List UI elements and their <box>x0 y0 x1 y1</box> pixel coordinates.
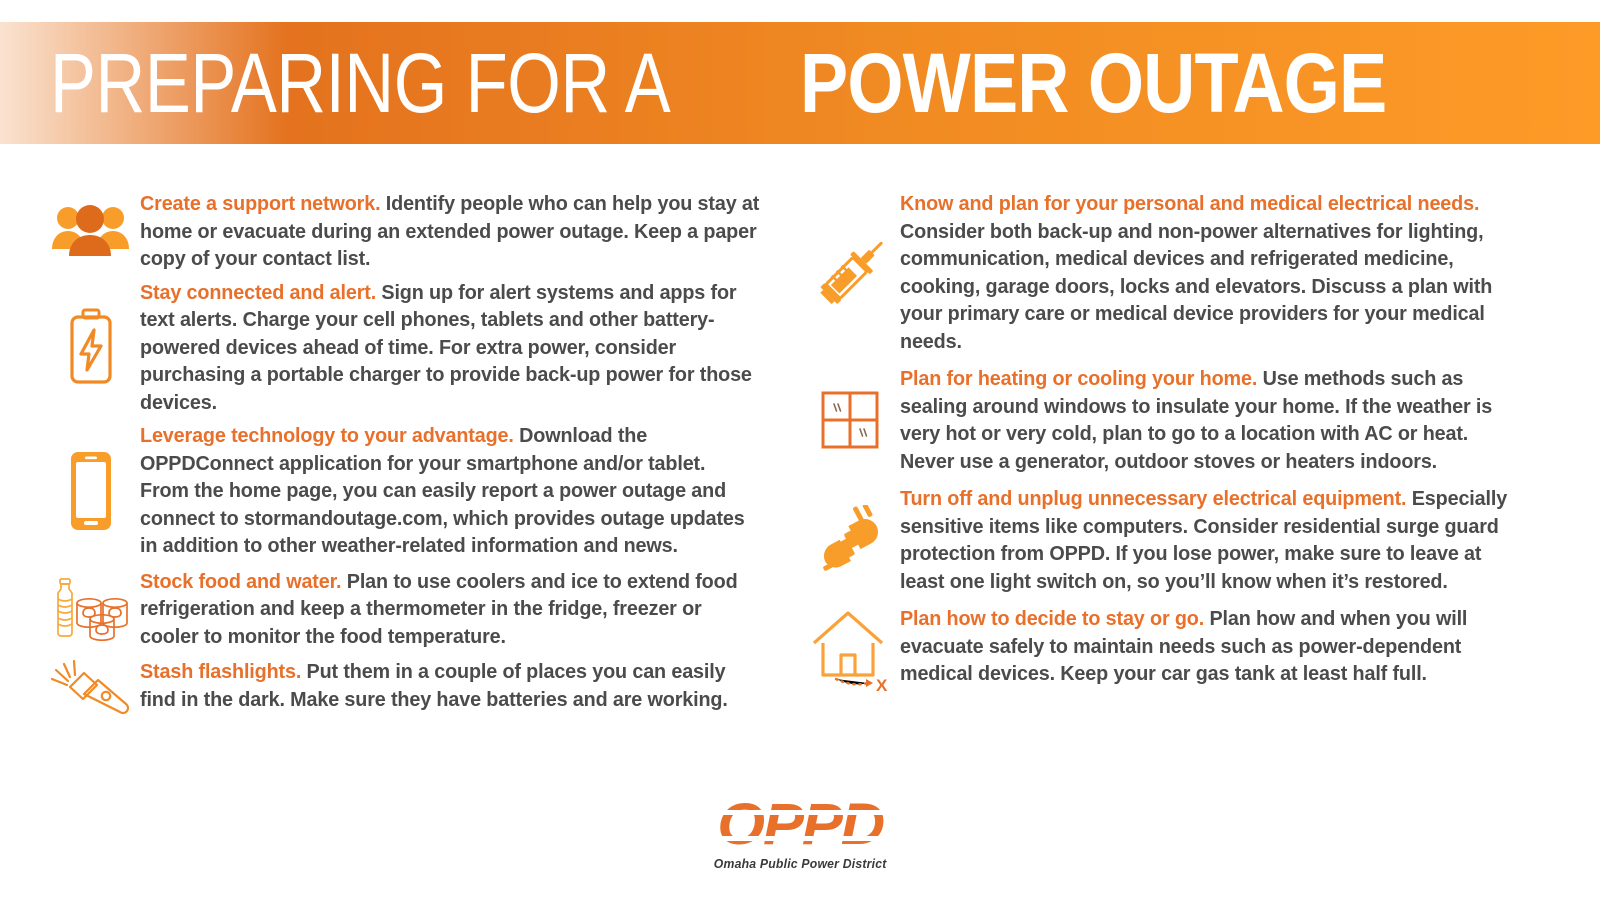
smartphone-icon <box>42 450 140 532</box>
tip-create-support-network: Create a support network. Identify peopl… <box>42 190 782 273</box>
tip-unplug-equipment: Turn off and unplug unnecessary electric… <box>800 485 1540 595</box>
tip-text: Plan for heating or cooling your home. U… <box>900 365 1518 475</box>
tip-heating-cooling-home: Plan for heating or cooling your home. U… <box>800 365 1540 475</box>
tip-heading: Stash flashlights. <box>140 660 301 683</box>
tip-text: Turn off and unplug unnecessary electric… <box>900 485 1518 595</box>
window-icon <box>800 389 900 451</box>
tip-stay-connected-alert: Stay connected and alert. Sign up for al… <box>42 279 782 417</box>
tip-text: Stash flashlights. Put them in a couple … <box>140 658 760 713</box>
tip-text: Plan how to decide to stay or go. Plan h… <box>900 605 1518 688</box>
content-columns: Create a support network. Identify peopl… <box>0 188 1600 726</box>
tip-heading: Leverage technology to your advantage. <box>140 424 514 447</box>
tip-heading: Know and plan for your personal and medi… <box>900 192 1479 215</box>
oppd-logo-mark: OPPD <box>717 796 883 854</box>
people-group-icon <box>42 203 140 259</box>
oppd-logo: OPPD Omaha Public Power District <box>0 796 1600 871</box>
water-bottle-cans-icon <box>42 577 140 641</box>
left-column: Create a support network. Identify peopl… <box>0 188 800 726</box>
tip-stay-or-go: X Plan how to decide to stay or go. Plan… <box>800 605 1540 691</box>
unplugged-plug-icon <box>800 505 900 575</box>
logo-slash-top <box>713 810 887 815</box>
flashlight-icon <box>42 658 140 720</box>
tip-heading: Plan for heating or cooling your home. <box>900 367 1257 390</box>
battery-bolt-icon <box>42 308 140 386</box>
tip-stash-flashlights: Stash flashlights. Put them in a couple … <box>42 658 782 720</box>
tip-text: Leverage technology to your advantage. D… <box>140 422 760 560</box>
header-title-group: PREPARING FOR A POWER OUTAGE <box>0 41 1482 125</box>
tip-heading: Create a support network. <box>140 192 380 215</box>
svg-text:X: X <box>876 676 888 691</box>
page-title-bold: POWER OUTAGE <box>800 41 1386 125</box>
infographic-page: PREPARING FOR A POWER OUTAGE <box>0 0 1600 900</box>
tip-text: Stock food and water. Plan to use cooler… <box>140 568 760 651</box>
syringe-icon <box>800 230 900 316</box>
tip-leverage-technology: Leverage technology to your advantage. D… <box>42 422 782 560</box>
tip-stock-food-water: Stock food and water. Plan to use cooler… <box>42 568 782 651</box>
tip-medical-electrical-needs: Know and plan for your personal and medi… <box>800 190 1540 355</box>
tip-text: Stay connected and alert. Sign up for al… <box>140 279 760 417</box>
page-title-light: PREPARING FOR A <box>50 41 670 125</box>
tip-text: Know and plan for your personal and medi… <box>900 190 1518 355</box>
logo-slash-bottom <box>713 836 887 841</box>
oppd-logo-text: OPPD <box>717 792 883 857</box>
header-banner: PREPARING FOR A POWER OUTAGE <box>0 22 1600 144</box>
oppd-logo-tagline: Omaha Public Power District <box>714 857 887 871</box>
right-column: Know and plan for your personal and medi… <box>800 188 1600 726</box>
tip-heading: Stay connected and alert. <box>140 281 376 304</box>
tip-text: Create a support network. Identify peopl… <box>140 190 760 273</box>
tip-description: Consider both back-up and non-power alte… <box>900 220 1492 353</box>
tip-heading: Stock food and water. <box>140 570 341 593</box>
house-evacuate-icon: X <box>800 605 900 691</box>
tip-heading: Turn off and unplug unnecessary electric… <box>900 487 1406 510</box>
tip-heading: Plan how to decide to stay or go. <box>900 607 1204 630</box>
